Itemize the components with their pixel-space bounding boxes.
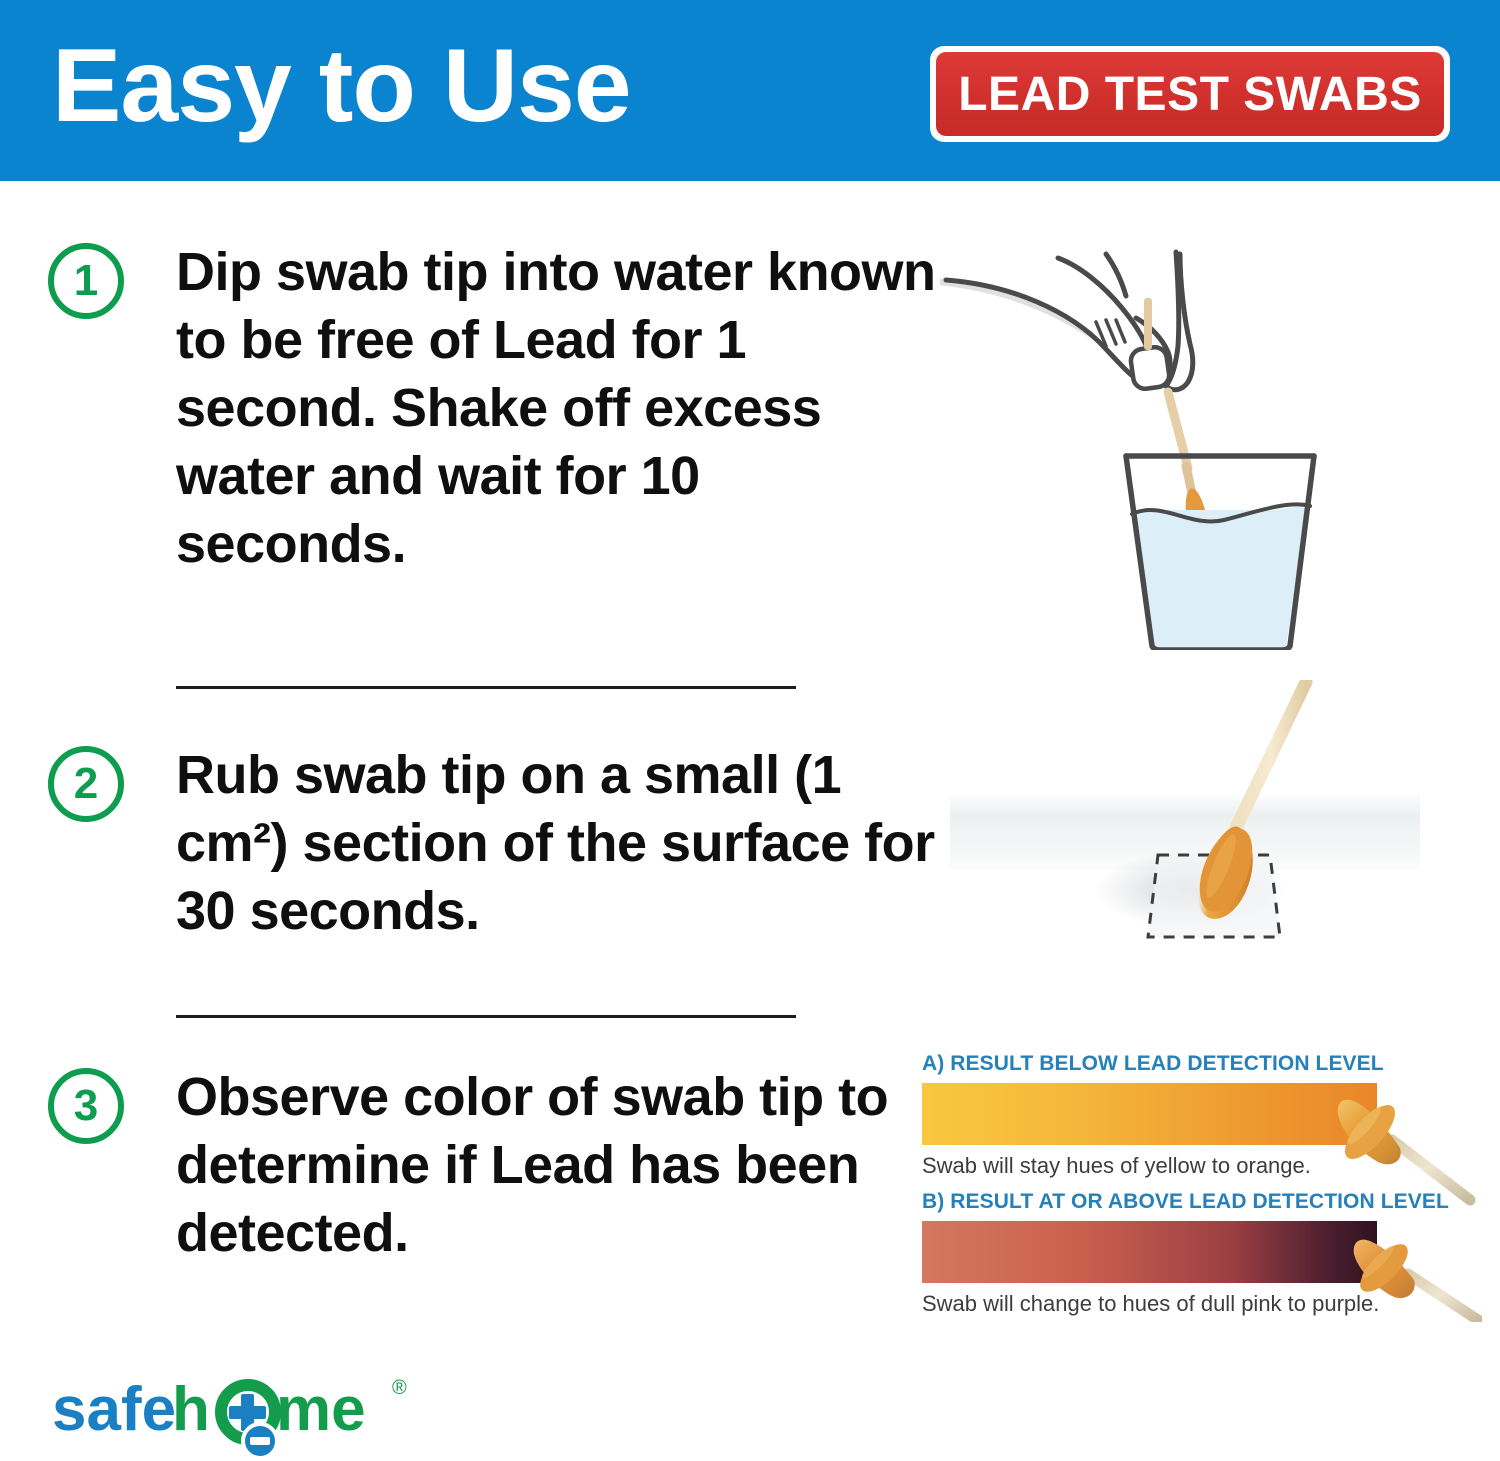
result-a-caption: Swab will stay hues of yellow to orange.	[922, 1153, 1482, 1179]
result-b-heading: B) RESULT AT OR ABOVE LEAD DETECTION LEV…	[922, 1190, 1482, 1214]
logo-letters-me: me	[276, 1375, 366, 1444]
step-2-number: 2	[48, 746, 124, 822]
logo-letter-h: h	[172, 1375, 210, 1444]
divider-1	[176, 686, 796, 689]
divider-2	[176, 1015, 796, 1018]
result-a-color-bar	[922, 1083, 1377, 1145]
page-title: Easy to Use	[52, 30, 631, 142]
step-3-text: Observe color of swab tip to determine i…	[176, 1063, 936, 1267]
logo-text-safe: safe	[52, 1375, 176, 1444]
step-1-text: Dip swab tip into water known to be free…	[176, 238, 936, 578]
illustration-swab-surface	[940, 680, 1420, 980]
header-banner: Easy to Use LEAD TEST SWABS	[0, 0, 1500, 181]
hand-dipping-swab-icon	[940, 230, 1420, 650]
infographic-page: Easy to Use LEAD TEST SWABS 1 Dip swab t…	[0, 0, 1500, 1461]
result-a-heading: A) RESULT BELOW LEAD DETECTION LEVEL	[922, 1052, 1482, 1076]
safehome-logo: safe h me ®	[52, 1368, 432, 1458]
illustration-hand-glass	[940, 230, 1420, 650]
step-2-text: Rub swab tip on a small (1 cm²) section …	[176, 741, 936, 945]
result-b-color-bar	[922, 1221, 1377, 1283]
product-badge-inner: LEAD TEST SWABS	[936, 52, 1444, 136]
logo-minus-icon	[243, 1424, 277, 1458]
product-badge-label: LEAD TEST SWABS	[958, 67, 1422, 122]
result-b-caption: Swab will change to hues of dull pink to…	[922, 1291, 1482, 1317]
swab-on-surface-icon	[940, 680, 1420, 980]
step-1-number: 1	[48, 243, 124, 319]
results-panel: A) RESULT BELOW LEAD DETECTION LEVEL Swa…	[922, 1052, 1482, 1322]
safehome-logo-icon: safe h me ®	[52, 1368, 432, 1458]
product-badge: LEAD TEST SWABS	[930, 46, 1450, 142]
step-3-number: 3	[48, 1068, 124, 1144]
logo-registered-mark: ®	[392, 1377, 407, 1399]
